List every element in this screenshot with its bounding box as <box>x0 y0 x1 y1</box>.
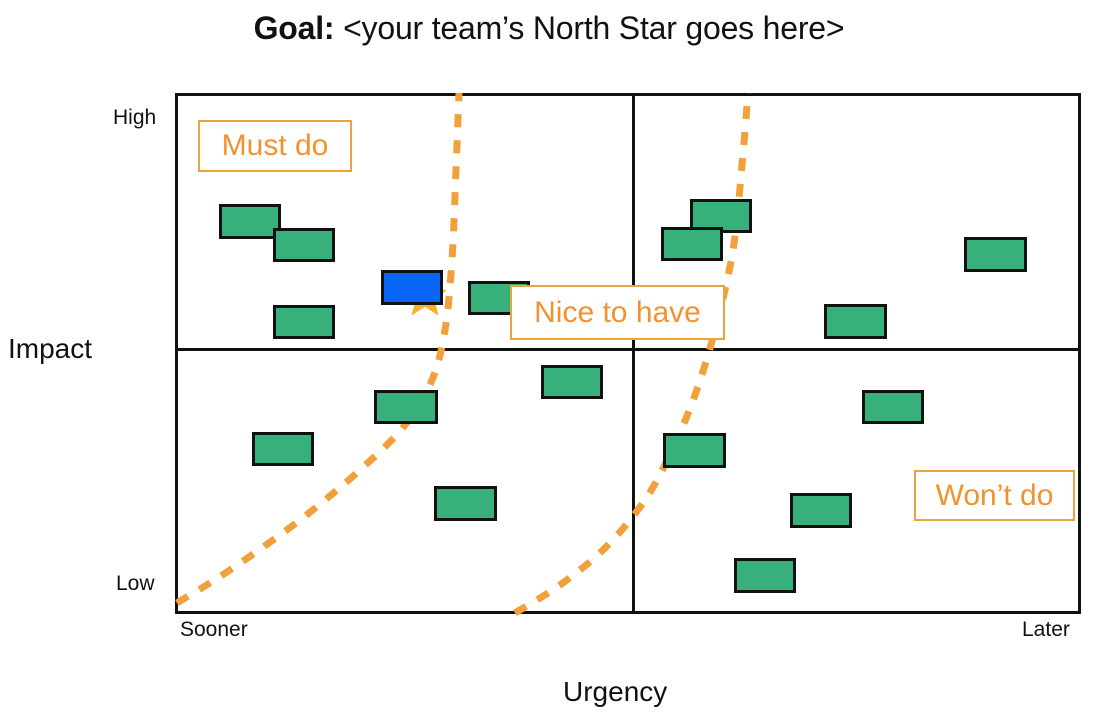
sticky-note[interactable] <box>663 433 726 468</box>
sticky-note[interactable] <box>790 493 852 528</box>
x-axis-title: Urgency <box>563 676 667 708</box>
sticky-note[interactable] <box>862 390 924 424</box>
sticky-note[interactable] <box>219 204 281 239</box>
sticky-note[interactable] <box>661 227 723 261</box>
matrix-canvas <box>0 0 1098 724</box>
x-axis-later-label: Later <box>1022 618 1070 642</box>
sticky-note[interactable] <box>434 486 497 521</box>
quadrant-label-nice-to-have-text: Nice to have <box>534 296 701 330</box>
sticky-note[interactable] <box>381 270 443 305</box>
sticky-note[interactable] <box>273 305 335 339</box>
quadrant-label-wont-do-text: Won’t do <box>936 479 1054 513</box>
sticky-note[interactable] <box>824 304 887 339</box>
sticky-note[interactable] <box>734 558 796 593</box>
x-axis-sooner-label: Sooner <box>180 618 248 642</box>
plot-frame <box>177 95 1080 613</box>
sticky-note[interactable] <box>541 365 603 399</box>
sticky-note[interactable] <box>273 228 335 262</box>
sticky-note[interactable] <box>252 432 314 466</box>
quadrant-label-nice-to-have[interactable]: Nice to have <box>510 285 725 340</box>
y-axis-high-label: High <box>113 106 156 130</box>
quadrant-label-must-do-text: Must do <box>222 129 329 163</box>
priority-curve-outer <box>515 93 748 613</box>
quadrant-label-wont-do[interactable]: Won’t do <box>914 470 1075 521</box>
sticky-note[interactable] <box>374 390 438 424</box>
quadrant-label-must-do[interactable]: Must do <box>198 120 352 172</box>
y-axis-title: Impact <box>8 333 92 365</box>
sticky-note[interactable] <box>964 237 1027 272</box>
y-axis-low-label: Low <box>116 572 155 596</box>
